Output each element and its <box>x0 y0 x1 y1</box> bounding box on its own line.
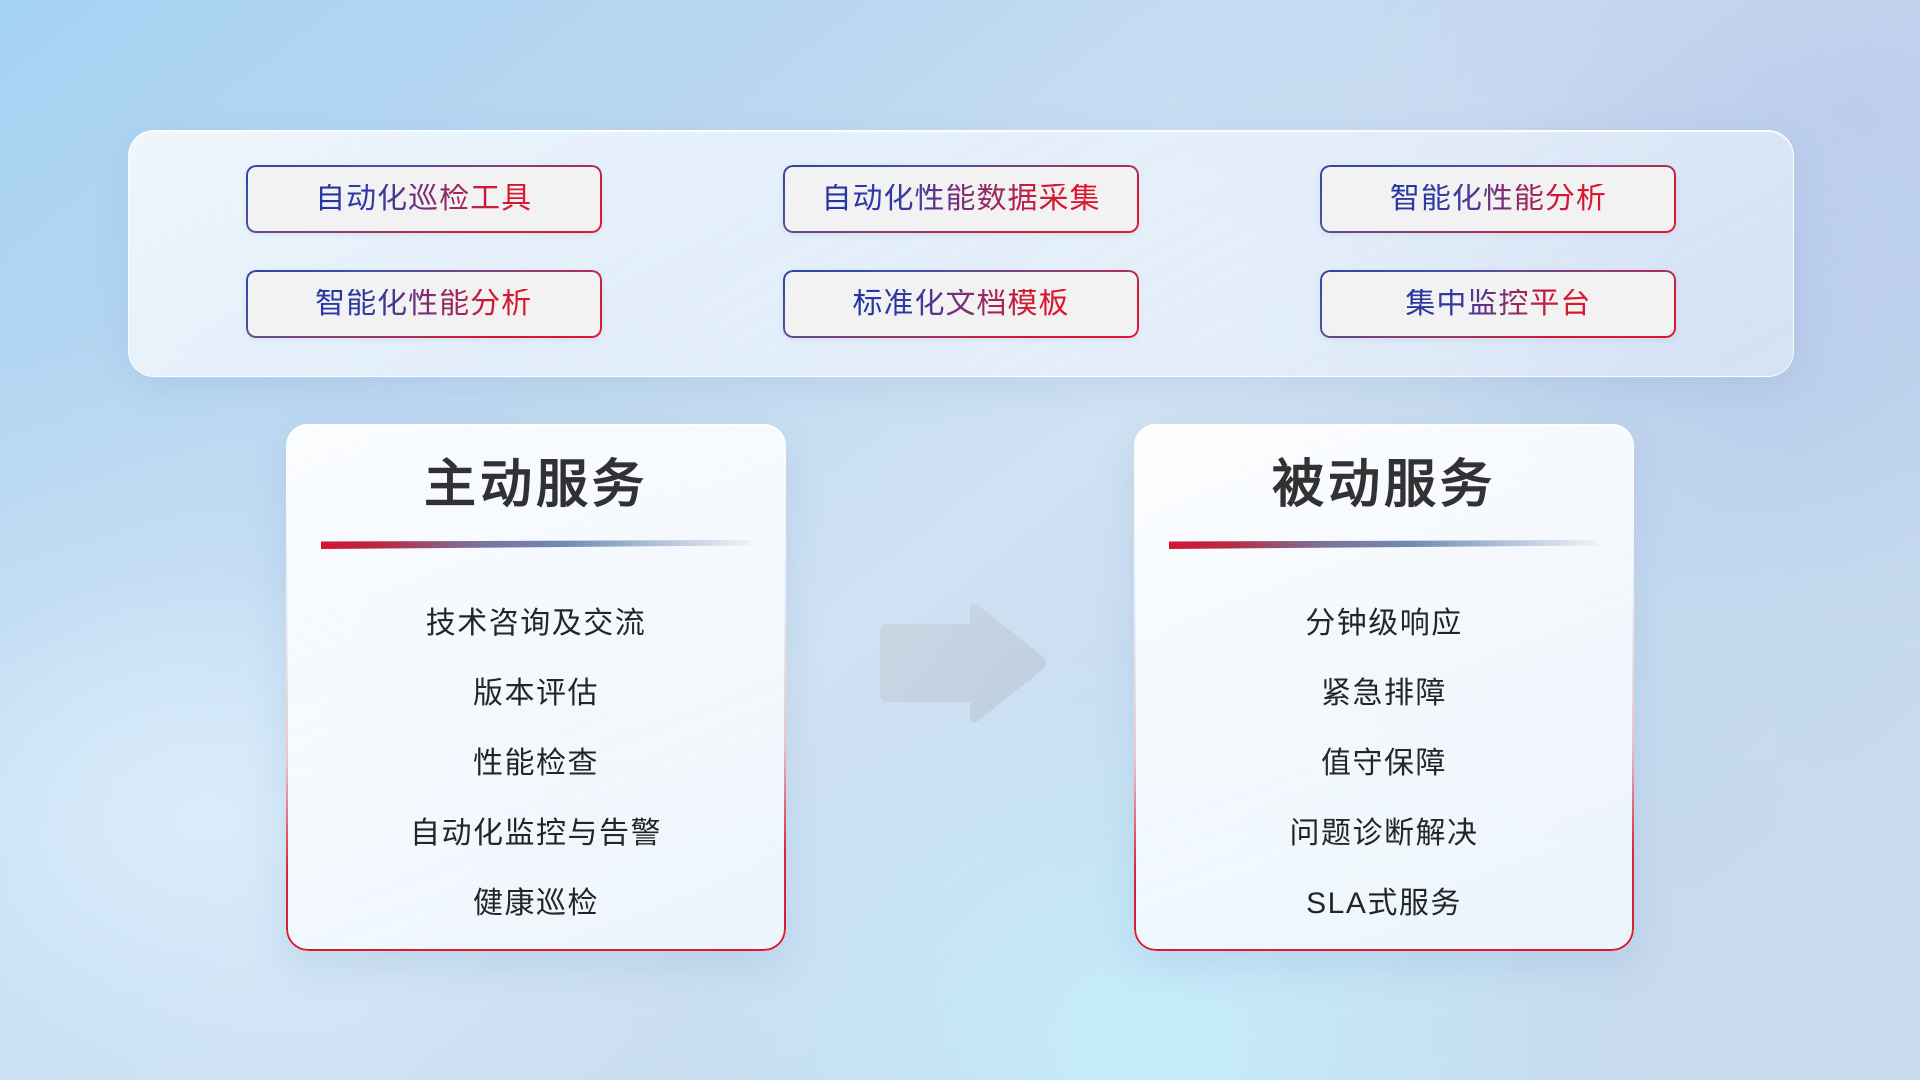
capability-chip[interactable]: 自动化性能数据采集 <box>783 165 1139 233</box>
capability-chip[interactable]: 自动化巡检工具 <box>246 165 602 233</box>
reactive-service-card: 被动服务 分钟级响应 紧急排障 值守保障 <box>1134 424 1634 951</box>
list-item: 技术咨询及交流 <box>286 589 786 659</box>
capability-chip-label: 集中监控平台 <box>1405 289 1591 319</box>
list-item: 版本评估 <box>286 659 786 729</box>
capability-panel: 自动化巡检工具 自动化性能数据采集 智能化性能分析 智能化性能分析 标准化文档模… <box>128 130 1794 377</box>
capability-chip-grid: 自动化巡检工具 自动化性能数据采集 智能化性能分析 智能化性能分析 标准化文档模… <box>129 131 1793 376</box>
list-item: SLA式服务 <box>1134 869 1634 939</box>
list-item: 紧急排障 <box>1134 659 1634 729</box>
capability-chip-label: 自动化巡检工具 <box>315 184 532 214</box>
proactive-title-rule <box>321 540 751 549</box>
reactive-title-rule <box>1169 540 1599 549</box>
list-item: 分钟级响应 <box>1134 589 1634 659</box>
capability-chip-label: 智能化性能分析 <box>315 289 532 319</box>
proactive-service-list: 技术咨询及交流 版本评估 性能检查 自动化监控与告警 健康巡检 <box>286 549 786 939</box>
list-item: 值守保障 <box>1134 729 1634 799</box>
slide-canvas: 自动化巡检工具 自动化性能数据采集 智能化性能分析 智能化性能分析 标准化文档模… <box>0 0 1920 1080</box>
proactive-service-card: 主动服务 技术咨询及交流 版本评估 性能检查 <box>286 424 786 951</box>
capability-chip[interactable]: 标准化文档模板 <box>783 270 1139 338</box>
capability-chip-label: 自动化性能数据采集 <box>821 184 1100 214</box>
capability-chip[interactable]: 集中监控平台 <box>1320 270 1676 338</box>
reactive-card-title: 被动服务 <box>1134 424 1634 516</box>
capability-chip-label: 智能化性能分析 <box>1390 184 1607 214</box>
list-item: 性能检查 <box>286 729 786 799</box>
capability-chip[interactable]: 智能化性能分析 <box>246 270 602 338</box>
capability-chip-label: 标准化文档模板 <box>852 289 1069 319</box>
proactive-card-title: 主动服务 <box>286 424 786 516</box>
list-item: 问题诊断解决 <box>1134 799 1634 869</box>
list-item: 健康巡检 <box>286 869 786 939</box>
arrow-right-icon <box>872 600 1048 726</box>
list-item: 自动化监控与告警 <box>286 799 786 869</box>
reactive-service-list: 分钟级响应 紧急排障 值守保障 问题诊断解决 SLA式服务 <box>1134 549 1634 939</box>
capability-chip[interactable]: 智能化性能分析 <box>1320 165 1676 233</box>
